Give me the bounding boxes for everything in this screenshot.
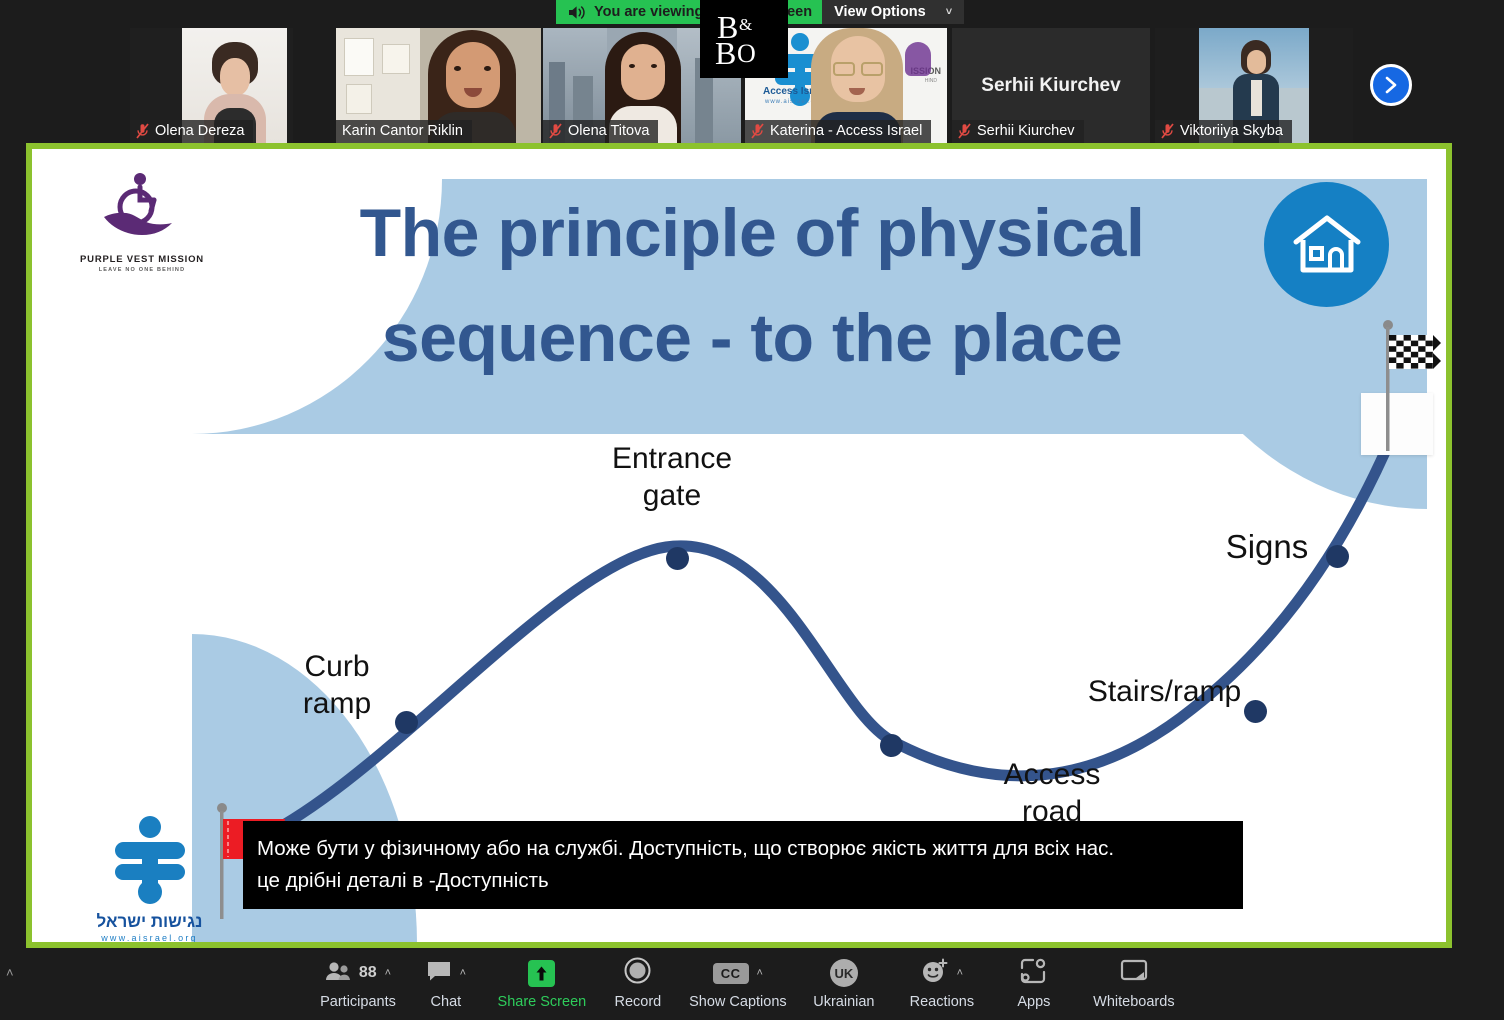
journey-label-curb-ramp: Curb ramp (247, 649, 427, 722)
b-and-o-logo-icon: B & B O (709, 8, 779, 70)
participant-name-label: Olena Titova (543, 120, 658, 143)
mic-muted-icon (136, 123, 149, 139)
live-caption-box: Може бути у фізичному або на службі. Дос… (243, 821, 1243, 909)
mic-muted-icon (958, 123, 971, 139)
participants-label: Participants (320, 994, 396, 1010)
participant-name-text: Olena Dereza (155, 123, 244, 139)
sharing-status-text: You are viewing (594, 4, 703, 20)
apps-icon (1020, 958, 1047, 989)
reactions-icon (921, 958, 949, 989)
participant-tile-viktoriiya-skyba[interactable]: Viktoriiya Skyba (1155, 28, 1353, 143)
record-label: Record (615, 994, 662, 1010)
svg-text:B: B (715, 35, 736, 70)
speaker-icon (568, 5, 587, 20)
journey-dot-access-road (880, 734, 903, 757)
caption-line-2: це дрібні деталі в -Доступність (257, 865, 1227, 897)
chat-label: Chat (431, 994, 462, 1010)
show-captions-label: Show Captions (689, 994, 787, 1010)
chat-icon (426, 960, 452, 987)
participant-name-text: Olena Titova (568, 123, 649, 139)
reactions-button[interactable]: ˄ Reactions (892, 953, 992, 1015)
record-button[interactable]: Record (596, 953, 680, 1015)
participant-name-text: Viktoriiya Skyba (1180, 123, 1283, 139)
meeting-toolbar: ˄ 88 ˄ Participants ˄ Chat (0, 948, 1504, 1020)
access-israel-logo: נגישות ישראל www.aisrael.org (87, 814, 212, 942)
participant-name-label: Olena Dereza (130, 120, 253, 143)
chevron-up-icon[interactable]: ˄ (385, 968, 391, 979)
journey-label-entrance-gate: Entrance gate (562, 441, 782, 514)
language-icon: UK (830, 959, 858, 987)
apps-button[interactable]: Apps (992, 953, 1076, 1015)
whiteboards-label: Whiteboards (1093, 994, 1174, 1010)
share-screen-icon (528, 960, 555, 987)
apps-label: Apps (1017, 994, 1050, 1010)
logo-hebrew-text: נגישות ישראל (87, 912, 212, 932)
chevron-down-icon: ˅ (946, 6, 952, 18)
next-participants-button[interactable] (1370, 64, 1412, 106)
show-captions-button[interactable]: CC ˄ Show Captions (680, 953, 796, 1015)
mic-muted-icon (549, 123, 562, 139)
participant-name-label: Karin Cantor Riklin (336, 120, 472, 143)
mic-muted-icon (751, 123, 764, 139)
zoom-meeting-window: You are viewing Riklin's screen View Opt… (0, 0, 1504, 1020)
mic-muted-icon (1161, 123, 1174, 139)
whiteboards-button[interactable]: Whiteboards (1076, 953, 1192, 1015)
svg-text:&: & (739, 15, 752, 34)
toolbar-expand-caret-icon[interactable]: ˄ (6, 965, 14, 980)
view-options-label: View Options (834, 4, 926, 20)
access-israel-icon (107, 814, 193, 904)
participant-tile-karin-cantor-riklin[interactable]: Karin Cantor Riklin (336, 28, 541, 143)
chevron-up-icon[interactable]: ˄ (460, 968, 466, 979)
participant-name-label: Serhii Kiurchev (952, 120, 1084, 143)
participant-name-text: Serhii Kiurchev (977, 123, 1075, 139)
b-and-o-logo-overlay: B & B O (700, 0, 788, 78)
participants-icon (325, 961, 351, 986)
participants-button[interactable]: 88 ˄ Participants (312, 953, 404, 1015)
language-label: Ukrainian (813, 994, 874, 1010)
journey-label-stairs-ramp: Stairs/ramp (1062, 674, 1267, 711)
journey-dot-entrance-gate (666, 547, 689, 570)
participant-name-text: Katerina - Access Israel (770, 123, 922, 139)
caption-line-1: Може бути у фізичному або на службі. Дос… (257, 833, 1227, 865)
participant-tile-olena-dereza[interactable]: Olena Dereza (130, 28, 293, 143)
whiteboard-icon (1120, 959, 1148, 988)
chat-button[interactable]: ˄ Chat (404, 953, 488, 1015)
journey-label-access-road: Access road (957, 757, 1147, 830)
language-button[interactable]: UK Ukrainian (796, 953, 892, 1015)
participant-tile-serhii-kiurchev[interactable]: Serhii Kiurchev Serhii Kiurchev (952, 28, 1150, 143)
participants-count: 88 (359, 964, 377, 982)
logo-url-text: www.aisrael.org (87, 933, 212, 942)
chevron-up-icon[interactable]: ˄ (957, 968, 963, 979)
cc-icon: CC (713, 963, 749, 984)
view-options-button[interactable]: View Options ˅ (822, 0, 964, 24)
share-screen-label: Share Screen (498, 994, 587, 1010)
checkered-finish-flag-icon (1372, 317, 1442, 457)
record-icon (624, 957, 651, 989)
reactions-label: Reactions (910, 994, 974, 1010)
share-screen-button[interactable]: Share Screen (488, 953, 596, 1015)
participant-name-label: Katerina - Access Israel (745, 120, 931, 143)
participant-name-text: Karin Cantor Riklin (342, 123, 463, 139)
chevron-up-icon[interactable]: ˄ (757, 968, 763, 979)
participant-name-label: Viktoriiya Skyba (1155, 120, 1292, 143)
svg-text:O: O (737, 39, 756, 68)
journey-label-signs: Signs (1182, 527, 1352, 567)
